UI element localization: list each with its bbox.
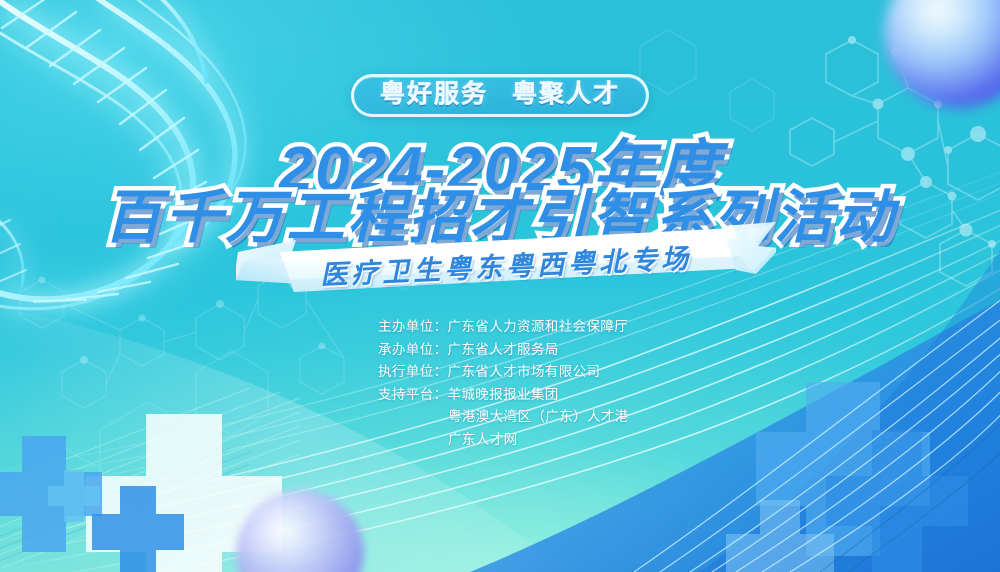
organizer-value: 粤港澳大湾区（广东）人才港 (448, 406, 629, 429)
gradient-orb-icon (884, 0, 1000, 108)
organizer-value: 广东省人才市场有限公司 (448, 361, 601, 384)
organizer-row: 承办单位：广东省人才服务局 (378, 339, 629, 362)
organizer-row: 支持平台：羊城晚报报业集团 (378, 384, 629, 407)
slogan-right: 粤聚人才 (512, 82, 620, 107)
organizer-list: 主办单位：广东省人力资源和社会保障厅 承办单位：广东省人才服务局 执行单位：广东… (378, 316, 629, 451)
organizer-row: 粤港澳大湾区（广东）人才港 (378, 406, 629, 429)
organizer-label: 执行单位： (378, 361, 448, 384)
slogan-badge: 粤好服务 粤聚人才 (351, 74, 649, 117)
organizer-label: 承办单位： (378, 339, 448, 362)
organizer-value: 广东省人才服务局 (448, 339, 559, 362)
organizer-value: 广东省人力资源和社会保障厅 (448, 316, 629, 339)
organizer-value: 羊城晚报报业集团 (448, 384, 559, 407)
organizer-row: 广东人才网 (378, 429, 629, 452)
slogan-left: 粤好服务 (380, 82, 488, 107)
subtitle-ribbon: 医疗卫生粤东粤西粤北专场 (236, 222, 776, 294)
organizer-row: 执行单位：广东省人才市场有限公司 (378, 361, 629, 384)
gradient-orb-icon (236, 490, 364, 572)
organizer-value: 广东人才网 (448, 429, 518, 452)
organizer-label: 支持平台： (378, 384, 448, 407)
organizer-row: 主办单位：广东省人力资源和社会保障厅 (378, 316, 629, 339)
organizer-label: 主办单位： (378, 316, 448, 339)
poster-canvas: 粤好服务 粤聚人才 2024-2025年度 百千万工程招才引智系列活动 (0, 0, 1000, 572)
